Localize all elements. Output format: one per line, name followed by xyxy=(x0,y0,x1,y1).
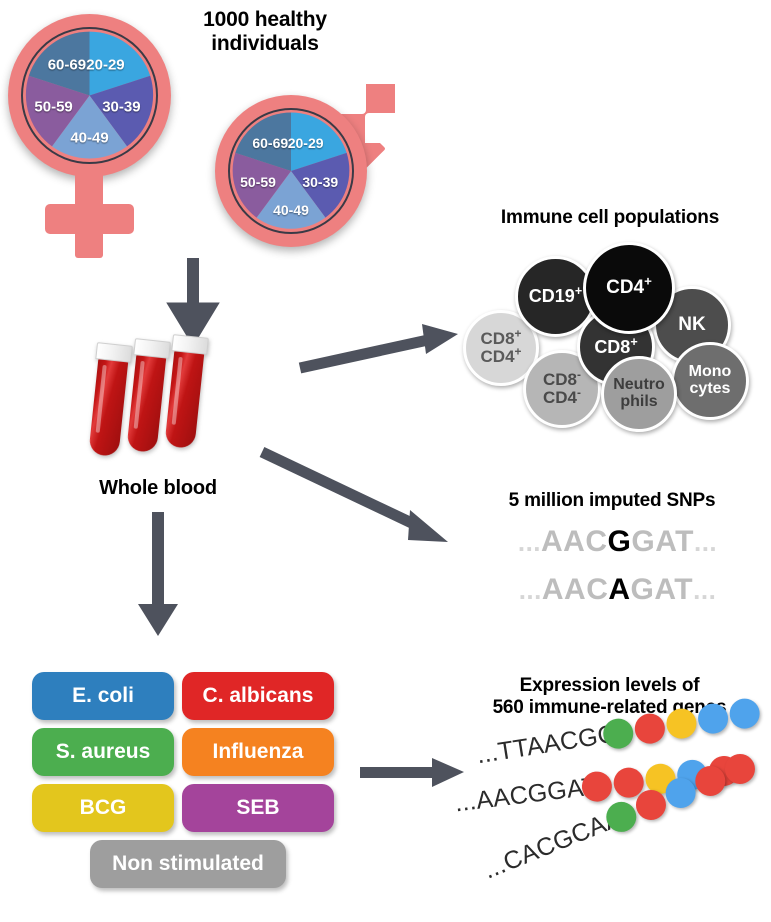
male-pie-label-50-59: 50-59 xyxy=(240,174,276,190)
snp-row-1-leading-ellipsis: ... xyxy=(518,527,541,557)
male-pie-label-40-49: 40-49 xyxy=(273,202,309,218)
snp-sequence-row-2: ...AACAGAT... xyxy=(485,573,750,607)
male-arrowhead-notch-top xyxy=(336,84,366,114)
arrow-to-snps xyxy=(258,448,463,553)
immune-cell-nk-label: NK xyxy=(678,315,705,335)
snp-row-1-variant: G xyxy=(608,525,632,558)
gene-bead xyxy=(728,696,762,730)
gene-strand-1-sequence: ...TTAACGG xyxy=(475,719,620,770)
female-age-pie: 20-29 30-39 40-49 50-59 60-69 xyxy=(21,27,158,164)
arrow-to-immune-cells xyxy=(296,322,466,378)
snp-row-1-trailing-ellipsis: ... xyxy=(694,527,717,557)
female-crossbar xyxy=(45,204,134,234)
gene-bead xyxy=(633,711,667,745)
male-arrowhead-notch-bottom xyxy=(365,113,395,143)
male-age-pie: 20-29 30-39 40-49 50-59 60-69 xyxy=(228,108,354,234)
gene-bead xyxy=(580,770,613,803)
immune-cell-neutrophils-line1: Neutro xyxy=(613,377,665,394)
snp-sequences: ...AACGGAT... ...AACAGAT... xyxy=(485,525,750,615)
snp-row-2-prefix: AAC xyxy=(542,573,609,606)
snp-row-2-variant: A xyxy=(608,573,630,606)
female-pie-label-50-59: 50-59 xyxy=(34,99,72,116)
stimulus-influenza[interactable]: Influenza xyxy=(182,728,334,776)
gene-bead xyxy=(601,716,635,750)
blood-tube-3-cap xyxy=(171,334,209,355)
snp-row-1-suffix: GAT xyxy=(631,525,694,558)
immune-cell-neutrophils: Neutro phils xyxy=(601,356,677,432)
female-pie-label-60-69: 60-69 xyxy=(48,56,86,73)
immune-cell-cd8neg-line: CD8- xyxy=(543,371,581,389)
female-symbol: 20-29 30-39 40-49 50-59 60-69 xyxy=(8,14,193,264)
immune-cell-cluster: CD8+ CD4+ CD19+ CD4+ NK CD8+ CD8- CD4- N… xyxy=(455,238,770,428)
gene-bead xyxy=(664,706,698,740)
male-pie-label-60-69: 60-69 xyxy=(252,135,288,151)
blood-tube-2-body xyxy=(126,353,166,453)
stimulus-s-aureus[interactable]: S. aureus xyxy=(32,728,174,776)
blood-tubes xyxy=(96,336,256,471)
immune-cell-cd4: CD4+ xyxy=(583,242,675,334)
snp-row-2-trailing-ellipsis: ... xyxy=(693,575,716,605)
blood-tube-1 xyxy=(88,342,130,457)
immune-cell-monocytes-line2: cytes xyxy=(689,381,732,398)
blood-tube-2-cap xyxy=(133,338,171,359)
immune-cell-cd4neg-line: CD4- xyxy=(543,389,581,407)
gene-strands: ...TTAACGG ...AACGGAT ...CACGCAA xyxy=(455,725,771,915)
male-symbol: 20-29 30-39 40-49 50-59 60-69 xyxy=(205,82,410,262)
female-pie-label-20-29: 20-29 xyxy=(86,56,124,73)
snp-sequence-row-1: ...AACGGAT... xyxy=(485,525,750,559)
female-pie-label-40-49: 40-49 xyxy=(70,130,108,147)
immune-cell-monocytes: Mono cytes xyxy=(671,342,749,420)
blood-tube-1-body xyxy=(88,357,128,457)
stimulus-e-coli[interactable]: E. coli xyxy=(32,672,174,720)
blood-tube-2 xyxy=(126,338,168,453)
immune-cell-neutrophils-line2: phils xyxy=(613,394,665,411)
gene-strand-2-sequence: ...AACGGAT xyxy=(453,772,599,818)
male-pie-label-20-29: 20-29 xyxy=(288,135,324,151)
snps-title: 5 million imputed SNPs xyxy=(462,490,762,512)
immune-populations-title: Immune cell populations xyxy=(455,207,765,229)
female-pie-label-30-39: 30-39 xyxy=(102,99,140,116)
immune-cell-monocytes-line1: Mono xyxy=(689,364,732,381)
stimuli-panel: E. coli C. albicans S. aureus Influenza … xyxy=(32,672,332,894)
blood-tube-3-body xyxy=(164,349,204,449)
blood-tube-1-cap xyxy=(95,342,133,363)
whole-blood-label: Whole blood xyxy=(58,477,258,500)
gene-bead xyxy=(696,701,730,735)
snp-row-2-suffix: GAT xyxy=(631,573,694,606)
stimulus-c-albicans[interactable]: C. albicans xyxy=(182,672,334,720)
immune-cell-cd4-label: CD4+ xyxy=(606,278,652,298)
arrow-down-to-stimuli xyxy=(133,512,183,642)
snp-row-2-leading-ellipsis: ... xyxy=(519,575,542,605)
immune-cell-cd4pos-line: CD4+ xyxy=(481,348,522,366)
immune-cell-cd8-label: CD8+ xyxy=(594,338,637,357)
gene-expression-title-line1: Expression levels of xyxy=(452,675,767,697)
stimulus-seb[interactable]: SEB xyxy=(182,784,334,832)
stimulus-bcg[interactable]: BCG xyxy=(32,784,174,832)
stimulus-non-stimulated[interactable]: Non stimulated xyxy=(90,840,286,888)
snp-row-1-prefix: AAC xyxy=(541,525,608,558)
immune-cell-cd19-label: CD19+ xyxy=(529,287,582,306)
blood-tube-3 xyxy=(164,334,206,449)
male-pie-label-30-39: 30-39 xyxy=(302,174,338,190)
arrow-down-to-blood xyxy=(168,258,218,346)
